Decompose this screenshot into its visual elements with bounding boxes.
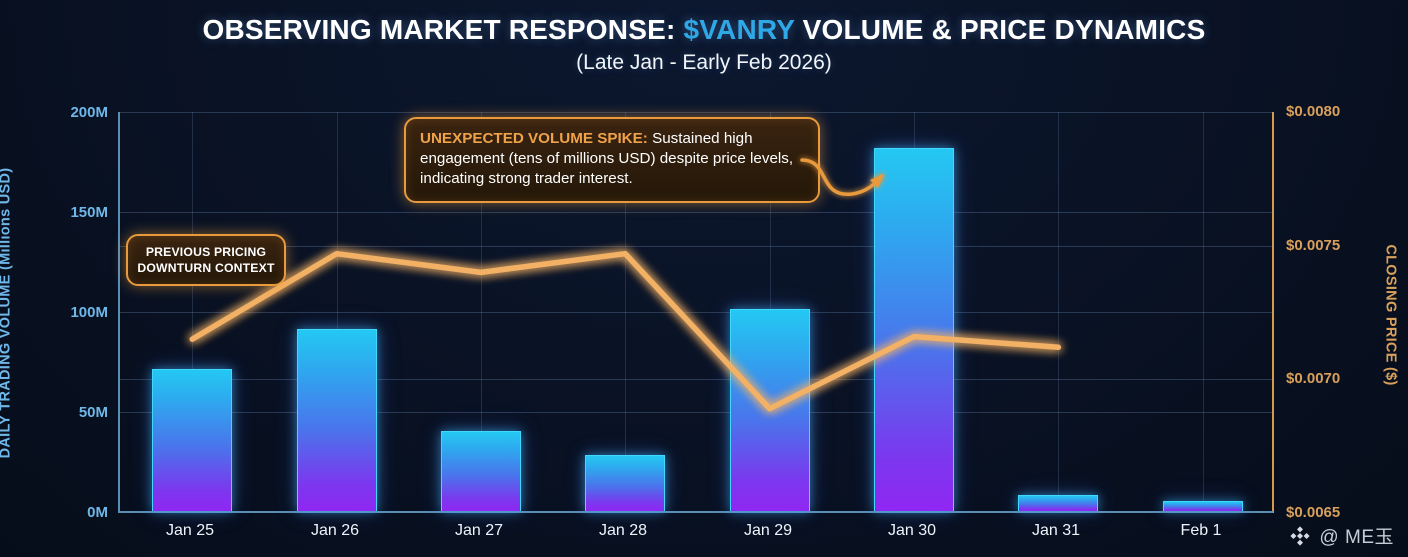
ytick-left-2: 100M xyxy=(18,304,108,321)
y-axis-title-right-label: CLOSING PRICE ($) xyxy=(1383,244,1399,385)
annotation-volume-spike-lead: UNEXPECTED VOLUME SPIKE: xyxy=(420,130,648,147)
title-part-1: OBSERVING MARKET RESPONSE: xyxy=(203,14,684,45)
xtick-jan30: Jan 30 xyxy=(888,522,936,540)
ytick-left-1: 50M xyxy=(18,404,108,421)
watermark-handle: @ ME玉 xyxy=(1319,522,1394,549)
page-title: OBSERVING MARKET RESPONSE: $VANRY VOLUME… xyxy=(0,14,1408,46)
xtick-feb1: Feb 1 xyxy=(1181,522,1222,540)
ytick-right-0: $0.0065 xyxy=(1286,504,1396,521)
ytick-left-4: 200M xyxy=(18,104,108,121)
annotation-previous-downturn-line1: PREVIOUS PRICING xyxy=(146,245,266,259)
annotation-previous-downturn[interactable]: PREVIOUS PRICING DOWNTURN CONTEXT xyxy=(126,234,286,286)
annotation-previous-downturn-line2: DOWNTURN CONTEXT xyxy=(137,261,274,275)
title-block: OBSERVING MARKET RESPONSE: $VANRY VOLUME… xyxy=(0,14,1408,75)
ytick-right-2: $0.0075 xyxy=(1286,237,1396,254)
ytick-left-3: 150M xyxy=(18,204,108,221)
annotation-previous-downturn-text: PREVIOUS PRICING DOWNTURN CONTEXT xyxy=(134,244,278,276)
watermark: @ ME玉 xyxy=(1288,522,1394,549)
annotation-volume-spike[interactable]: UNEXPECTED VOLUME SPIKE: Sustained high … xyxy=(404,117,820,203)
xtick-jan31: Jan 31 xyxy=(1032,522,1080,540)
ytick-right-3: $0.0080 xyxy=(1286,103,1396,120)
binance-diamond-icon xyxy=(1288,524,1312,548)
ytick-left-0: 0M xyxy=(18,504,108,521)
price-line xyxy=(192,254,1058,409)
title-ticker: $VANRY xyxy=(683,14,794,45)
xtick-jan29: Jan 29 xyxy=(744,522,792,540)
xtick-jan27: Jan 27 xyxy=(455,522,503,540)
y-axis-title-left: DAILY TRADING VOLUME (Millions USD) xyxy=(0,112,18,513)
chart-subtitle: (Late Jan - Early Feb 2026) xyxy=(0,51,1408,75)
annotation-volume-spike-text: UNEXPECTED VOLUME SPIKE: Sustained high … xyxy=(420,129,804,190)
xtick-jan26: Jan 26 xyxy=(311,522,359,540)
annotation-pointer-arrow xyxy=(800,150,910,210)
ytick-right-1: $0.0070 xyxy=(1286,370,1396,387)
y-axis-title-left-label: DAILY TRADING VOLUME (Millions USD) xyxy=(0,167,13,458)
xtick-jan28: Jan 28 xyxy=(599,522,647,540)
xtick-jan25: Jan 25 xyxy=(166,522,214,540)
title-part-2: VOLUME & PRICE DYNAMICS xyxy=(795,14,1206,45)
y-axis-title-right: CLOSING PRICE ($) xyxy=(1378,150,1404,480)
